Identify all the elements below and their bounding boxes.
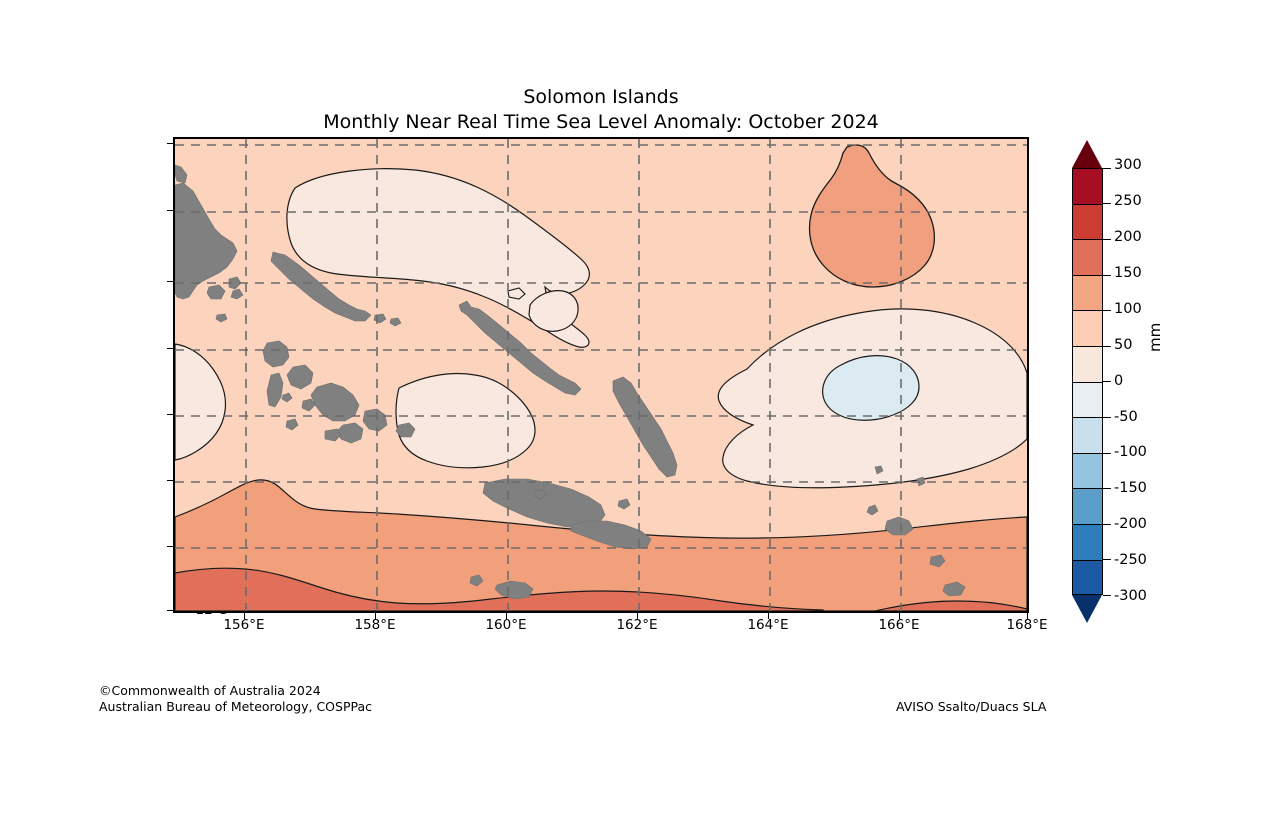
colorbar-label-150: 150 bbox=[1114, 265, 1142, 281]
xtick-label-166E: 166°E bbox=[839, 617, 959, 633]
xtick-label-160E: 160°E bbox=[446, 617, 566, 633]
colorbar[interactable] bbox=[1072, 168, 1103, 595]
page-title: Solomon Islands Monthly Near Real Time S… bbox=[0, 85, 1202, 135]
figure-canvas: Solomon Islands Monthly Near Real Time S… bbox=[0, 0, 1262, 816]
colorbar-swatch-150-200 bbox=[1072, 239, 1103, 275]
colorbar-label-250: 250 bbox=[1114, 193, 1142, 209]
colorbar-swatch-minus50-0 bbox=[1072, 382, 1103, 418]
xtick-label-158E: 158°E bbox=[315, 617, 435, 633]
colorbar-label-minus250: -250 bbox=[1114, 552, 1147, 568]
colorbar-unit-label: mm bbox=[1146, 323, 1164, 352]
colorbar-label-minus150: -150 bbox=[1114, 480, 1147, 496]
footer-copyright: ©Commonwealth of Australia 2024 bbox=[99, 683, 372, 699]
footer-agency: Australian Bureau of Meteorology, COSPPa… bbox=[99, 699, 372, 715]
colorbar-swatch-minus100-50 bbox=[1072, 417, 1103, 453]
colorbar-swatch-minus250-200 bbox=[1072, 524, 1103, 560]
colorbar-label-minus100: -100 bbox=[1114, 444, 1147, 460]
colorbar-swatch-50-100 bbox=[1072, 310, 1103, 346]
colorbar-swatch-0-50 bbox=[1072, 346, 1103, 382]
colorbar-label-minus50: -50 bbox=[1114, 409, 1138, 425]
footer-attribution: ©Commonwealth of Australia 2024 Australi… bbox=[99, 683, 372, 714]
colorbar-label-50: 50 bbox=[1114, 337, 1132, 353]
colorbar-swatch-minus200-150 bbox=[1072, 488, 1103, 524]
colorbar-swatch-200-250 bbox=[1072, 204, 1103, 240]
title-line-subtitle: Monthly Near Real Time Sea Level Anomaly… bbox=[0, 110, 1202, 135]
colorbar-swatch-minus150-100 bbox=[1072, 453, 1103, 489]
xtick-label-164E: 164°E bbox=[708, 617, 828, 633]
xtick-label-168E: 168°E bbox=[967, 617, 1087, 633]
sea-level-anomaly-map bbox=[175, 139, 1027, 611]
colorbar-under-arrow bbox=[1072, 595, 1102, 623]
colorbar-label-300: 300 bbox=[1114, 157, 1142, 173]
colorbar-label-0: 0 bbox=[1114, 373, 1123, 389]
map-frame bbox=[173, 137, 1029, 613]
xtick-label-156E: 156°E bbox=[184, 617, 304, 633]
colorbar-swatch-250-300 bbox=[1072, 168, 1103, 204]
colorbar-label-100: 100 bbox=[1114, 301, 1142, 317]
map-plot-area[interactable] bbox=[173, 137, 1029, 613]
title-line-region: Solomon Islands bbox=[0, 85, 1202, 110]
colorbar-label-minus300: -300 bbox=[1114, 588, 1147, 604]
xtick-label-162E: 162°E bbox=[577, 617, 697, 633]
colorbar-label-200: 200 bbox=[1114, 229, 1142, 245]
footer-data-source: AVISO Ssalto/Duacs SLA bbox=[896, 699, 1046, 714]
colorbar-over-arrow bbox=[1072, 140, 1102, 168]
colorbar-swatch-minus300-250 bbox=[1072, 560, 1103, 596]
colorbar-label-minus200: -200 bbox=[1114, 516, 1147, 532]
colorbar-swatch-100-150 bbox=[1072, 275, 1103, 311]
